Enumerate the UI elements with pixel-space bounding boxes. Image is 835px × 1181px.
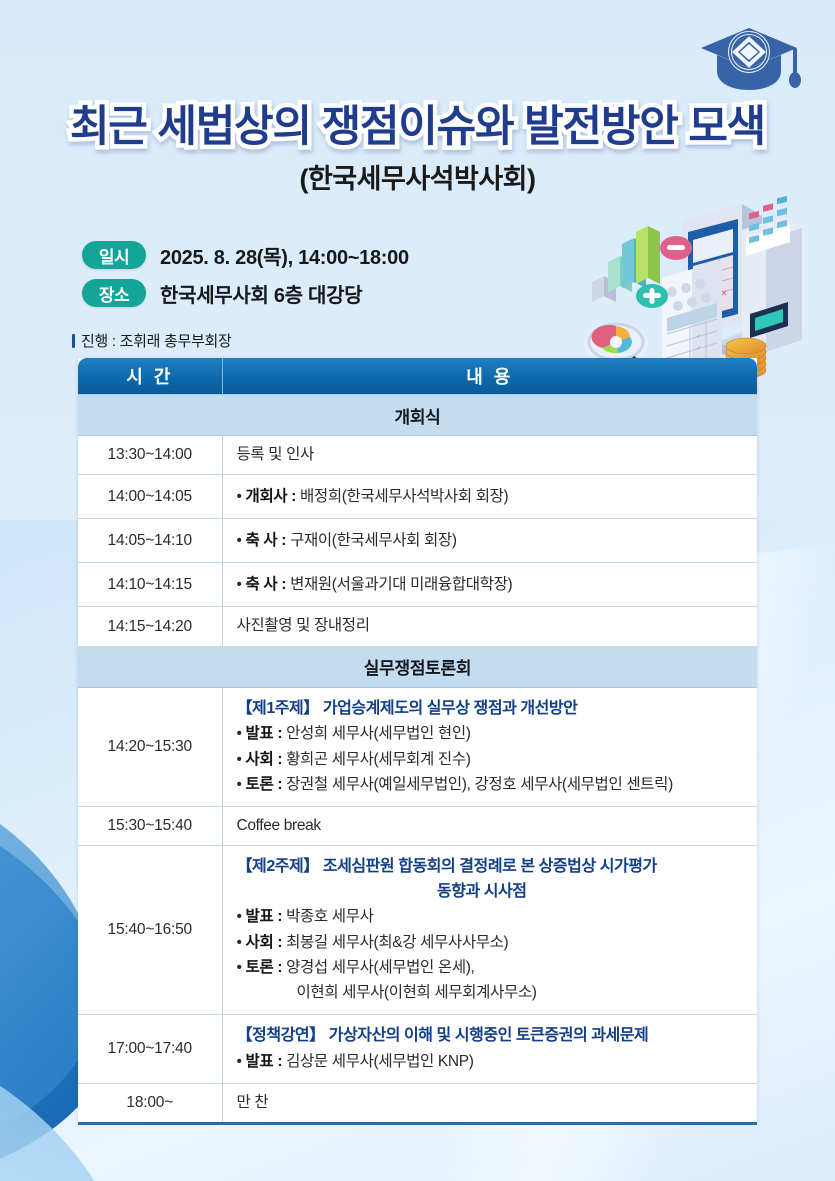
schedule-section-label: 실무쟁점토론회	[78, 646, 757, 687]
schedule-bullet-label: 사회 :	[246, 751, 287, 768]
schedule-section-row: 실무쟁점토론회	[78, 646, 757, 687]
schedule-row: 14:00~14:05• 개회사 : 배정희(한국세무사석박사회 회장)	[78, 475, 757, 519]
schedule-bullet-text: 변재원(서울과기대 미래융합대학장)	[290, 576, 512, 593]
schedule-content: • 축 사 : 구재이(한국세무사회 회장)	[222, 519, 757, 563]
table-bottom-bar	[78, 1122, 757, 1125]
schedule-time: 18:00~	[78, 1083, 222, 1122]
schedule-time: 15:40~16:50	[78, 845, 222, 1014]
schedule-row: 13:30~14:00등록 및 인사	[78, 436, 757, 475]
svg-text:✓: ✓	[696, 334, 701, 340]
schedule-bullet-label: 발표 :	[246, 1053, 287, 1070]
schedule-bullet-label: 축 사 :	[246, 532, 291, 549]
schedule-content: 만 찬	[222, 1083, 757, 1122]
schedule-time: 13:30~14:00	[78, 436, 222, 475]
schedule-bullet-label: 발표 :	[246, 725, 287, 742]
seminar-poster: 최근 세법상의 쟁점이슈와 발전방안 모색 (한국세무사석박사회) 일시 202…	[0, 0, 835, 1181]
schedule-bullet-text: 장권철 세무사(예일세무법인), 강정호 세무사(세무법인 센트릭)	[286, 776, 673, 793]
schedule-content: Coffee break	[222, 806, 757, 845]
schedule-content: 사진촬영 및 장내정리	[222, 607, 757, 646]
schedule-topic-title: 【제2주제】 조세심판원 합동회의 결정례로 본 상증법상 시가평가	[237, 855, 752, 880]
schedule-plain-line: 등록 및 인사	[237, 445, 752, 465]
schedule-content: 【정책강연】 가상자산의 이해 및 시행중인 토큰증권의 과세문제• 발표 : …	[222, 1014, 757, 1083]
graduation-cap-emblem-icon	[693, 22, 805, 96]
schedule-content: • 축 사 : 변재원(서울과기대 미래융합대학장)	[222, 563, 757, 607]
minus-badge	[660, 236, 692, 260]
badge-venue-label: 장소	[82, 279, 146, 307]
schedule-time: 14:10~14:15	[78, 563, 222, 607]
schedule-plain-line: 만 찬	[237, 1093, 752, 1113]
schedule-row: 14:15~14:20사진촬영 및 장내정리	[78, 607, 757, 646]
moderator-line: 진행 : 조휘래 총무부회장	[72, 330, 231, 351]
schedule-bullet-text: 박종호 세무사	[286, 908, 373, 925]
schedule-bullet-line: • 축 사 : 구재이(한국세무사회 회장)	[237, 528, 752, 553]
schedule-topic-title: 【제1주제】 가업승계제도의 실무상 쟁점과 개선방안	[237, 697, 752, 722]
schedule-bullet-text: 양경섭 세무사(세무법인 온세),	[286, 959, 474, 976]
schedule-bullet-label: 발표 :	[246, 908, 287, 925]
svg-text:✓: ✓	[696, 346, 701, 352]
schedule-bullet-line: • 개회사 : 배정희(한국세무사석박사회 회장)	[237, 484, 752, 509]
schedule-bullet-text: 김상문 세무사(세무법인 KNP)	[286, 1053, 473, 1070]
schedule-content: 【제1주제】 가업승계제도의 실무상 쟁점과 개선방안• 발표 : 안성희 세무…	[222, 687, 757, 806]
schedule-bullet-label: 토론 :	[246, 776, 287, 793]
schedule-content: 【제2주제】 조세심판원 합동회의 결정례로 본 상증법상 시가평가동향과 시사…	[222, 845, 757, 1014]
schedule-time: 15:30~15:40	[78, 806, 222, 845]
column-header-time: 시 간	[78, 358, 222, 395]
schedule-bullet-text: 구재이(한국세무사회 회장)	[290, 532, 457, 549]
schedule-bullet-label: 토론 :	[246, 959, 287, 976]
schedule-row: 15:30~15:40Coffee break	[78, 806, 757, 845]
schedule-section-label: 개회식	[78, 395, 757, 436]
schedule-content: 등록 및 인사	[222, 436, 757, 475]
info-row-venue: 장소 한국세무사회 6층 대강당	[82, 274, 409, 312]
schedule-bullet-label: 축 사 :	[246, 576, 291, 593]
schedule-topic-title: 【정책강연】 가상자산의 이해 및 시행중인 토큰증권의 과세문제	[237, 1024, 752, 1049]
schedule-bullet-text: 안성희 세무사(세무법인 현인)	[286, 725, 470, 742]
moderator-text: 진행 : 조휘래 총무부회장	[81, 330, 231, 351]
schedule-bullet-label: 사회 :	[246, 934, 287, 951]
schedule-bullet-line: • 토론 : 양경섭 세무사(세무법인 온세),	[237, 955, 752, 980]
schedule-time: 14:05~14:10	[78, 519, 222, 563]
program-schedule-table: 시 간 내 용 개회식13:30~14:00등록 및 인사14:00~14:05…	[78, 358, 757, 1122]
schedule-continued-line: 이현희 세무사(이현희 세무회계사무소)	[237, 980, 752, 1005]
schedule-bullet-text: 최봉길 세무사(최&강 세무사사무소)	[286, 934, 508, 951]
schedule-row: 15:40~16:50【제2주제】 조세심판원 합동회의 결정례로 본 상증법상…	[78, 845, 757, 1014]
event-info: 일시 2025. 8. 28(목), 14:00~18:00 장소 한국세무사회…	[82, 236, 409, 312]
poster-title-wrap: 최근 세법상의 쟁점이슈와 발전방안 모색	[0, 92, 835, 154]
table-body: 개회식13:30~14:00등록 및 인사14:00~14:05• 개회사 : …	[78, 395, 757, 1122]
poster-subtitle: (한국세무사석박사회)	[0, 157, 835, 196]
schedule-topic-title-cont: 동향과 시사점	[237, 880, 752, 905]
schedule-row: 18:00~만 찬	[78, 1083, 757, 1122]
event-venue-value: 한국세무사회 6층 대강당	[160, 279, 362, 308]
schedule-time: 14:20~15:30	[78, 687, 222, 806]
schedule-bullet-line: • 토론 : 장권철 세무사(예일세무법인), 강정호 세무사(세무법인 센트릭…	[237, 772, 752, 797]
schedule-bullet-text: 배정희(한국세무사석박사회 회장)	[300, 488, 508, 505]
poster-title: 최근 세법상의 쟁점이슈와 발전방안 모색	[70, 92, 765, 154]
info-row-date: 일시 2025. 8. 28(목), 14:00~18:00	[82, 236, 409, 274]
schedule-bullet-line: • 발표 : 박종호 세무사	[237, 904, 752, 929]
plus-badge	[636, 284, 668, 308]
schedule-bullet-line: • 사회 : 황희곤 세무사(세무회계 진수)	[237, 747, 752, 772]
schedule-bullet-line: • 발표 : 김상문 세무사(세무법인 KNP)	[237, 1049, 752, 1074]
bar-marker-icon	[72, 334, 75, 348]
event-date-value: 2025. 8. 28(목), 14:00~18:00	[160, 241, 409, 270]
schedule-bullet-label: 개회사 :	[246, 488, 300, 505]
schedule-bullet-line: • 사회 : 최봉길 세무사(최&강 세무사사무소)	[237, 930, 752, 955]
schedule-time: 14:00~14:05	[78, 475, 222, 519]
column-header-content: 내 용	[222, 358, 757, 395]
schedule-time: 17:00~17:40	[78, 1014, 222, 1083]
schedule-bullet-line: • 발표 : 안성희 세무사(세무법인 현인)	[237, 721, 752, 746]
badge-date-label: 일시	[82, 241, 146, 269]
schedule-row: 14:10~14:15• 축 사 : 변재원(서울과기대 미래융합대학장)	[78, 563, 757, 607]
schedule-row: 17:00~17:40【정책강연】 가상자산의 이해 및 시행중인 토큰증권의 …	[78, 1014, 757, 1083]
schedule-plain-line: Coffee break	[237, 816, 752, 836]
schedule-content: • 개회사 : 배정희(한국세무사석박사회 회장)	[222, 475, 757, 519]
schedule-plain-line: 사진촬영 및 장내정리	[237, 616, 752, 636]
schedule-section-row: 개회식	[78, 395, 757, 436]
schedule-row: 14:05~14:10• 축 사 : 구재이(한국세무사회 회장)	[78, 519, 757, 563]
schedule-bullet-text: 황희곤 세무사(세무회계 진수)	[286, 751, 470, 768]
schedule-time: 14:15~14:20	[78, 607, 222, 646]
schedule-row: 14:20~15:30【제1주제】 가업승계제도의 실무상 쟁점과 개선방안• …	[78, 687, 757, 806]
table-header-row: 시 간 내 용	[78, 358, 757, 395]
schedule-bullet-line: • 축 사 : 변재원(서울과기대 미래융합대학장)	[237, 572, 752, 597]
